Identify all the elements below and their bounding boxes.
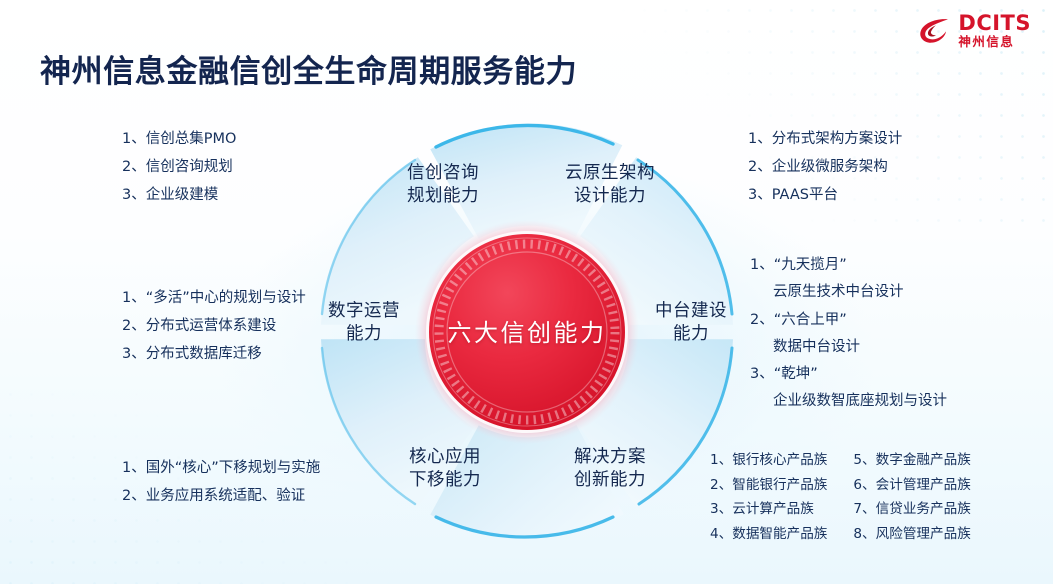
list-item: 3、PAAS平台 xyxy=(748,182,902,210)
list-item: 1、银行核心产品族 xyxy=(710,448,827,473)
list-item-text: 信创咨询规划 xyxy=(146,159,233,175)
list-item-text: 数字金融产品族 xyxy=(876,452,971,468)
list-item-index: 3、 xyxy=(710,497,732,522)
segment-label-line2: 创新能力 xyxy=(574,470,646,490)
list-item: 5、数字金融产品族 xyxy=(853,448,970,473)
list-item-index: 5、 xyxy=(853,448,875,473)
list-item-index: 1、 xyxy=(122,126,146,154)
segment-label-cloud-native: 云原生架构 设计能力 xyxy=(540,162,680,209)
segment-label-solution: 解决方案 创新能力 xyxy=(540,446,680,493)
list-item-subtext: 企业级数智底座规划与设计 xyxy=(750,388,947,415)
segment-label-line2: 能力 xyxy=(673,324,709,344)
dcits-logo: DCITS 神州信息 xyxy=(917,13,1031,49)
list-item-index: 2、 xyxy=(750,307,774,334)
list-item: 8、风险管理产品族 xyxy=(853,522,970,547)
list-item-index: 8、 xyxy=(853,522,875,547)
list-item-index: 3、 xyxy=(122,341,146,369)
list-item: 1、“多活”中心的规划与设计 xyxy=(122,285,306,313)
dcits-swoosh-icon xyxy=(917,16,951,46)
list-item: 2、企业级微服务架构 xyxy=(748,154,902,182)
list-item: 1、分布式架构方案设计 xyxy=(748,126,902,154)
list-item-index: 2、 xyxy=(748,154,772,182)
list-item: 2、分布式运营体系建设 xyxy=(122,313,306,341)
list-item-index: 7、 xyxy=(853,497,875,522)
solution-col-2: 5、数字金融产品族6、会计管理产品族7、信贷业务产品族8、风险管理产品族 xyxy=(853,448,970,547)
list-item-text: “多活”中心的规划与设计 xyxy=(146,290,306,306)
list-item-index: 2、 xyxy=(710,473,732,498)
list-item: 2、业务应用系统适配、验证 xyxy=(122,483,320,511)
wheel-center-label: 六大信创能力 xyxy=(399,313,655,348)
list-item-text: 数据智能产品族 xyxy=(732,526,827,542)
list-item: 3、分布式数据库迁移 xyxy=(122,341,306,369)
list-item: 3、云计算产品族 xyxy=(710,497,827,522)
segment-label-line2: 下移能力 xyxy=(409,470,481,490)
segment-label-line1: 信创咨询 xyxy=(407,163,479,183)
list-item-text: 企业级微服务架构 xyxy=(772,159,888,175)
segment-label-line2: 能力 xyxy=(346,324,382,344)
solution-col-1: 1、银行核心产品族2、智能银行产品族3、云计算产品族4、数据智能产品族 xyxy=(710,448,827,547)
detail-list-digital-ops: 1、“多活”中心的规划与设计2、分布式运营体系建设3、分布式数据库迁移 xyxy=(122,285,306,368)
slide-canvas: DCITS 神州信息 神州信息金融信创全生命周期服务能力 xyxy=(0,0,1053,584)
segment-label-line1: 中台建设 xyxy=(655,301,727,321)
list-item: 2、信创咨询规划 xyxy=(122,154,236,182)
list-item-text: “九天揽月” xyxy=(774,257,847,273)
segment-label-line1: 核心应用 xyxy=(409,447,481,467)
list-item-text: 云计算产品族 xyxy=(732,501,814,517)
list-item-subtext: 数据中台设计 xyxy=(750,334,947,361)
list-item-index: 3、 xyxy=(122,182,146,210)
list-item: 2、“六合上甲” xyxy=(750,307,947,334)
segment-label-line2: 规划能力 xyxy=(407,186,479,206)
segment-label-line1: 云原生架构 xyxy=(565,163,655,183)
list-item: 1、国外“核心”下移规划与实施 xyxy=(122,455,320,483)
segment-label-line1: 数字运营 xyxy=(328,301,400,321)
detail-list-cloud-native: 1、分布式架构方案设计2、企业级微服务架构3、PAAS平台 xyxy=(748,126,902,209)
list-item-index: 1、 xyxy=(122,285,146,313)
list-item: 1、信创总集PMO xyxy=(122,126,236,154)
list-item-text: 分布式运营体系建设 xyxy=(146,318,277,334)
list-item: 3、“乾坤” xyxy=(750,361,947,388)
list-item-text: 智能银行产品族 xyxy=(732,477,827,493)
list-item-index: 2、 xyxy=(122,154,146,182)
list-item: 3、企业级建模 xyxy=(122,182,236,210)
list-item-text: 分布式架构方案设计 xyxy=(772,131,903,147)
logo-text-en: DCITS xyxy=(958,13,1031,34)
logo-text-cn: 神州信息 xyxy=(958,36,1031,49)
list-item: 7、信贷业务产品族 xyxy=(853,497,970,522)
list-item-subtext: 云原生技术中台设计 xyxy=(750,279,947,306)
list-item-text: PAAS平台 xyxy=(772,187,838,203)
segment-label-line1: 解决方案 xyxy=(574,447,646,467)
list-item: 2、智能银行产品族 xyxy=(710,473,827,498)
list-item-index: 1、 xyxy=(122,455,146,483)
list-item-text: 会计管理产品族 xyxy=(876,477,971,493)
list-item-text: “六合上甲” xyxy=(774,312,847,328)
list-item-index: 3、 xyxy=(750,361,774,388)
list-item-text: 银行核心产品族 xyxy=(732,452,827,468)
list-item-text: 业务应用系统适配、验证 xyxy=(146,488,306,504)
detail-list-core-app: 1、国外“核心”下移规划与实施2、业务应用系统适配、验证 xyxy=(122,455,320,511)
list-item-text: 风险管理产品族 xyxy=(876,526,971,542)
list-item-index: 1、 xyxy=(748,126,772,154)
list-item: 6、会计管理产品族 xyxy=(853,473,970,498)
list-item-index: 1、 xyxy=(710,448,732,473)
list-item: 1、“九天揽月” xyxy=(750,252,947,279)
segment-label-line2: 设计能力 xyxy=(574,186,646,206)
list-item-text: 国外“核心”下移规划与实施 xyxy=(146,460,321,476)
detail-list-midplatform: 1、“九天揽月”云原生技术中台设计2、“六合上甲”数据中台设计3、“乾坤”企业级… xyxy=(750,252,947,416)
list-item-index: 6、 xyxy=(853,473,875,498)
segment-label-core-app: 核心应用 下移能力 xyxy=(375,446,515,493)
list-item-index: 1、 xyxy=(750,252,774,279)
list-item: 4、数据智能产品族 xyxy=(710,522,827,547)
list-item-index: 2、 xyxy=(122,483,146,511)
detail-list-consulting: 1、信创总集PMO2、信创咨询规划3、企业级建模 xyxy=(122,126,236,209)
segment-label-consulting: 信创咨询 规划能力 xyxy=(373,162,513,209)
list-item-text: “乾坤” xyxy=(774,366,818,382)
page-title: 神州信息金融信创全生命周期服务能力 xyxy=(40,46,577,91)
list-item-text: 企业级建模 xyxy=(146,187,219,203)
list-item-index: 2、 xyxy=(122,313,146,341)
list-item-text: 分布式数据库迁移 xyxy=(146,346,262,362)
list-item-text: 信贷业务产品族 xyxy=(876,501,971,517)
list-item-text: 信创总集PMO xyxy=(146,131,237,147)
detail-list-solution: 1、银行核心产品族2、智能银行产品族3、云计算产品族4、数据智能产品族 5、数字… xyxy=(710,448,971,547)
list-item-index: 3、 xyxy=(748,182,772,210)
list-item-index: 4、 xyxy=(710,522,732,547)
